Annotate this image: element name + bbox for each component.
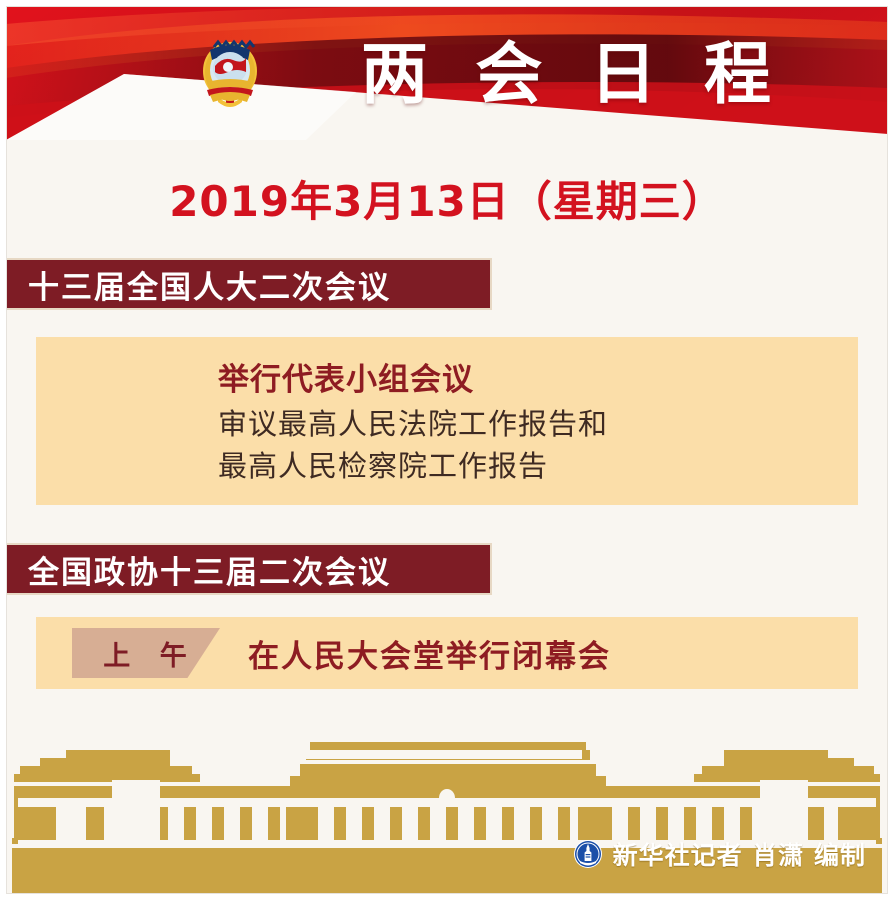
header-banner: 两 会 日 程 (6, 6, 888, 140)
xinhua-logo-icon (573, 839, 603, 869)
cppcc-emblem-icon (201, 38, 259, 110)
date-heading: 2019年3月13日（星期三） (0, 168, 894, 229)
credit-block: 新华社记者 肖潇 编制 (573, 836, 866, 872)
agenda-panel-cppcc: 上 午 在人民大会堂举行闭幕会 (36, 617, 858, 689)
poster-root: 两 会 日 程 2019年3月13日（星期三） 十三届全国人大二次会议 举行代表… (0, 0, 894, 900)
section-header-label: 全国政协十三届二次会议 (28, 547, 391, 592)
agenda-title: 举行代表小组会议 (218, 357, 858, 403)
section-header-cppcc: 全国政协十三届二次会议 (0, 543, 492, 595)
credit-text: 新华社记者 肖潇 编制 (613, 836, 866, 872)
time-tag-morning: 上 午 (72, 628, 220, 678)
section-header-label: 十三届全国人大二次会议 (28, 262, 391, 307)
section-header-npc: 十三届全国人大二次会议 (0, 258, 492, 310)
agenda-panel-npc: 举行代表小组会议 审议最高人民法院工作报告和 最高人民检察院工作报告 (36, 337, 858, 505)
agenda-line: 最高人民检察院工作报告 (218, 445, 858, 487)
agenda-row-text: 在人民大会堂举行闭幕会 (248, 631, 611, 676)
agenda-line: 审议最高人民法院工作报告和 (218, 403, 858, 445)
banner-title: 两 会 日 程 (361, 32, 783, 116)
